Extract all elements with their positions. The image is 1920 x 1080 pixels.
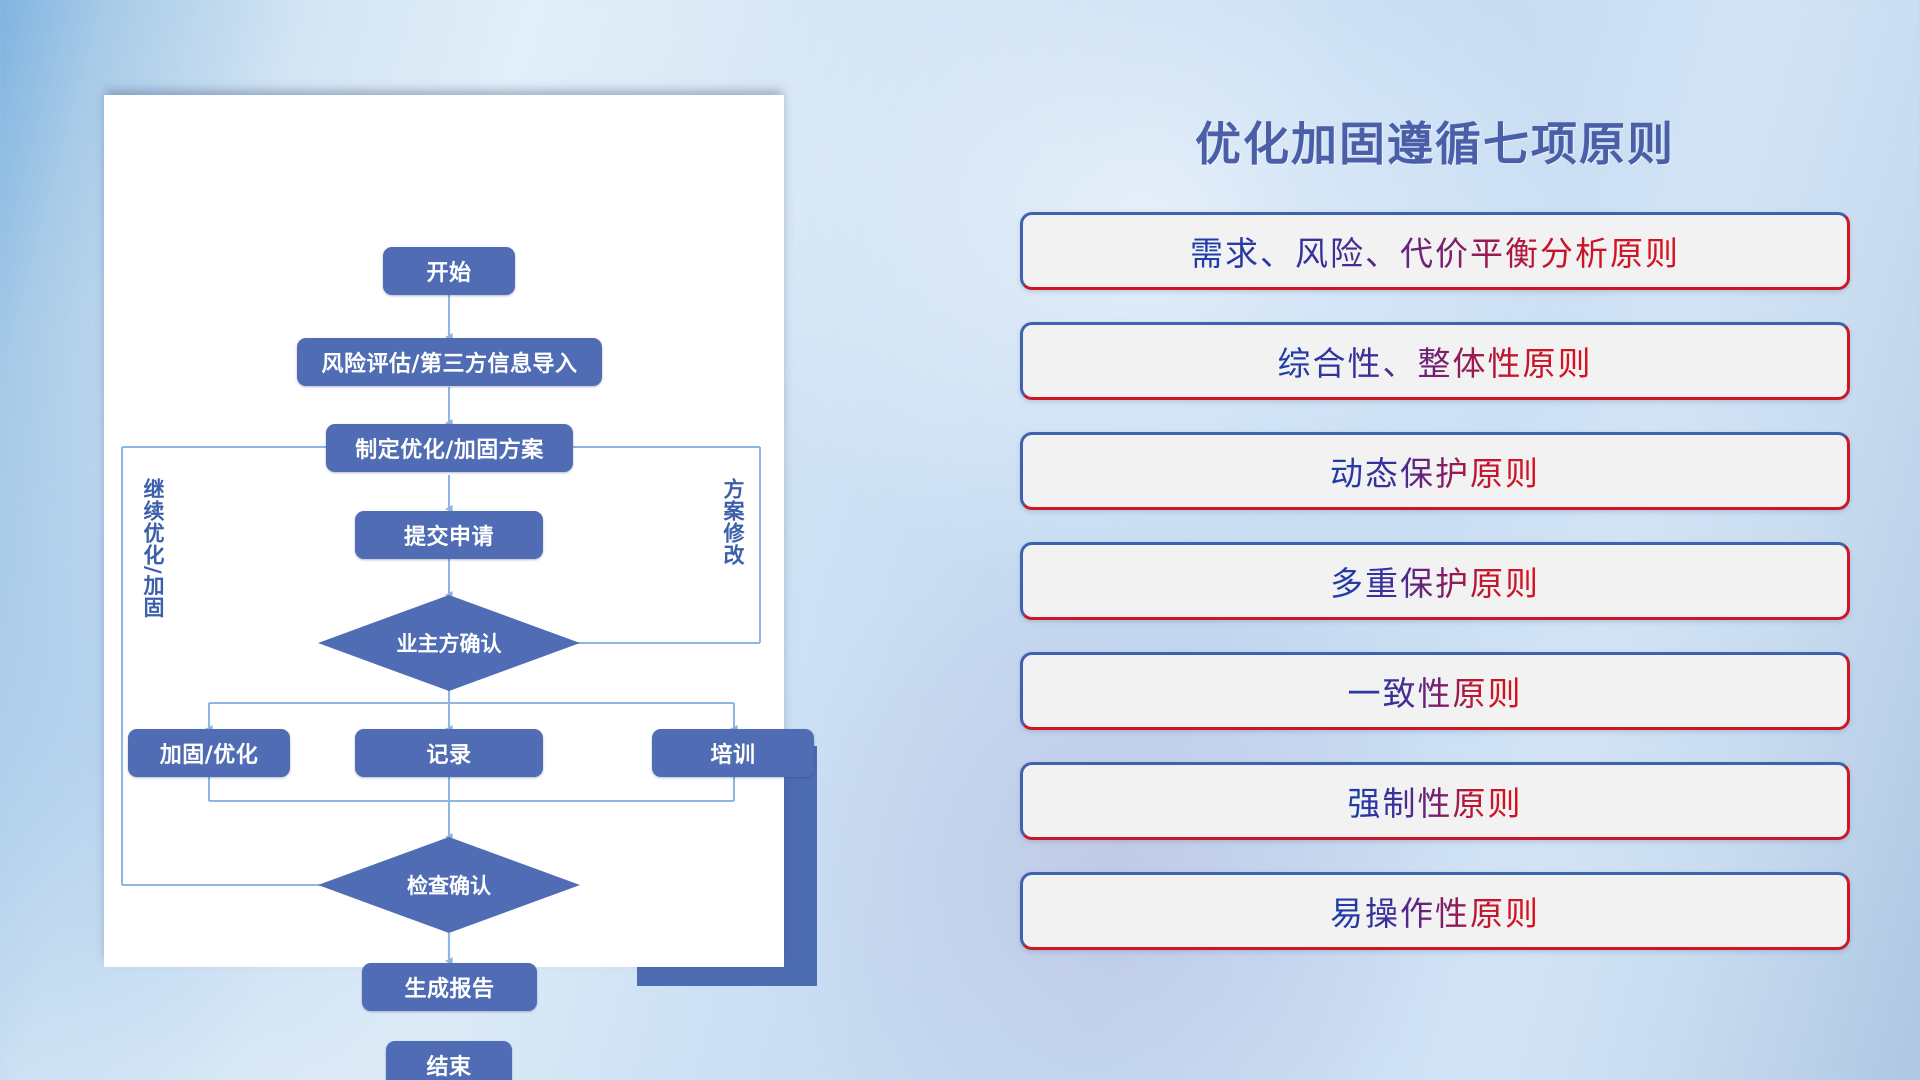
- principle-label: 动态保护原则: [1330, 447, 1540, 495]
- flow-node-submit-label: 提交申请: [404, 519, 494, 551]
- flow-edge-label-continue-optimize: 继续优化/加固: [142, 478, 164, 619]
- flow-node-reinforce-label: 加固/优化: [160, 737, 259, 769]
- principle-label: 综合性、整体性原则: [1278, 337, 1593, 385]
- principle-card[interactable]: 综合性、整体性原则: [1020, 322, 1850, 400]
- principle-card[interactable]: 需求、风险、代价平衡分析原则: [1020, 212, 1850, 290]
- flow-node-plan[interactable]: 制定优化/加固方案: [326, 424, 573, 472]
- flow-node-risk-assessment[interactable]: 风险评估/第三方信息导入: [297, 338, 602, 386]
- principle-label: 易操作性原则: [1330, 887, 1540, 935]
- flow-node-report-label: 生成报告: [404, 971, 494, 1003]
- diamond-shape-icon: [318, 837, 580, 933]
- flow-edge-label-plan-revision: 方案修改: [722, 478, 744, 566]
- flowchart-card: 开始 风险评估/第三方信息导入 制定优化/加固方案 提交申请 业主方确认 加固/…: [104, 95, 784, 967]
- flow-node-training[interactable]: 培训: [652, 729, 814, 777]
- principle-card[interactable]: 多重保护原则: [1020, 542, 1850, 620]
- flow-node-end[interactable]: 结束: [386, 1041, 512, 1080]
- flow-node-submit[interactable]: 提交申请: [355, 511, 543, 559]
- principles-title: 优化加固遵循七项原则: [1020, 108, 1850, 174]
- flow-node-training-label: 培训: [710, 737, 755, 769]
- principle-label: 需求、风险、代价平衡分析原则: [1190, 227, 1680, 275]
- flow-node-end-label: 结束: [426, 1049, 471, 1080]
- flow-node-report[interactable]: 生成报告: [362, 963, 537, 1011]
- principle-label: 强制性原则: [1348, 777, 1523, 825]
- flow-node-start[interactable]: 开始: [383, 247, 515, 295]
- principle-label: 多重保护原则: [1330, 557, 1540, 605]
- flow-node-risk-assessment-label: 风险评估/第三方信息导入: [321, 346, 577, 378]
- principle-card[interactable]: 强制性原则: [1020, 762, 1850, 840]
- principle-label: 一致性原则: [1348, 667, 1523, 715]
- principle-card[interactable]: 易操作性原则: [1020, 872, 1850, 950]
- flow-node-start-label: 开始: [426, 255, 471, 287]
- flow-node-check-confirm[interactable]: 检查确认: [318, 837, 580, 933]
- diamond-shape-icon: [318, 595, 580, 691]
- principles-list: 需求、风险、代价平衡分析原则 综合性、整体性原则 动态保护原则 多重保护原则 一…: [1020, 212, 1850, 950]
- flow-node-plan-label: 制定优化/加固方案: [355, 432, 544, 464]
- flow-node-reinforce[interactable]: 加固/优化: [128, 729, 290, 777]
- principle-card[interactable]: 一致性原则: [1020, 652, 1850, 730]
- principles-panel: 优化加固遵循七项原则 需求、风险、代价平衡分析原则 综合性、整体性原则 动态保护…: [1020, 80, 1850, 1010]
- flow-node-record-label: 记录: [426, 737, 471, 769]
- principle-card[interactable]: 动态保护原则: [1020, 432, 1850, 510]
- flow-node-record[interactable]: 记录: [355, 729, 543, 777]
- flow-node-owner-confirm[interactable]: 业主方确认: [318, 595, 580, 691]
